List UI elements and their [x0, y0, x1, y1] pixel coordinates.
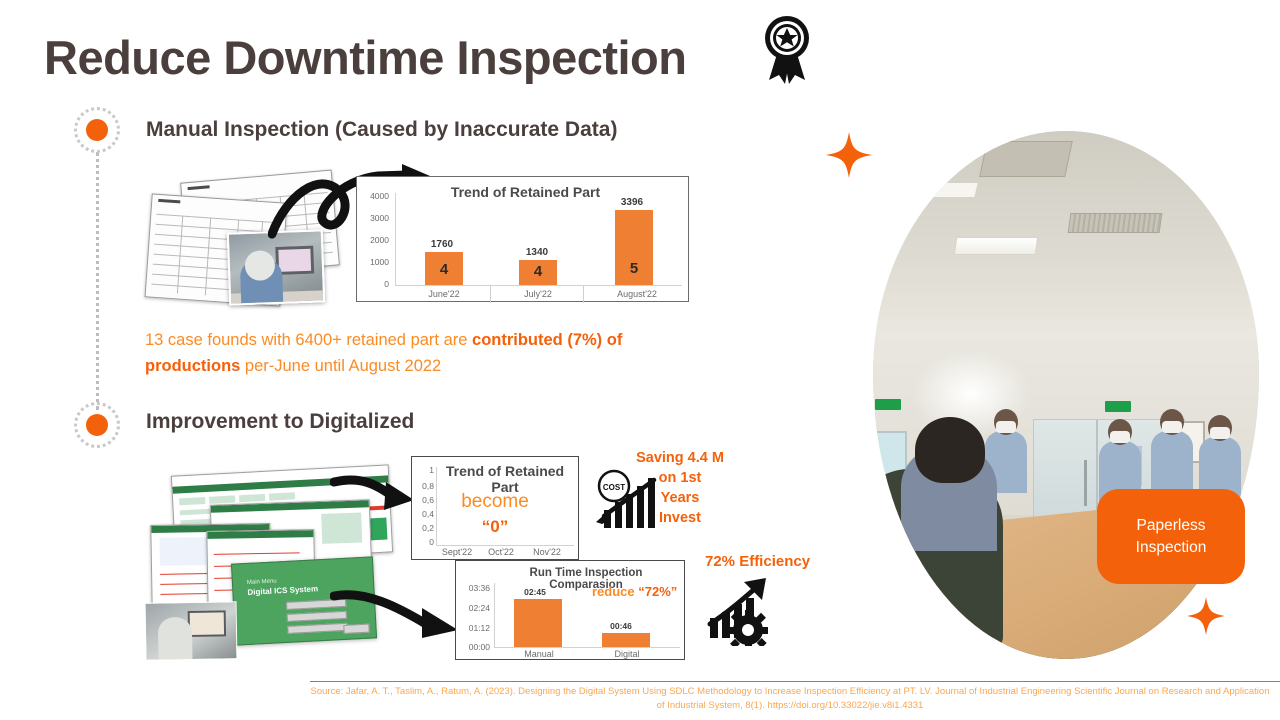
arrow-to-chart3-icon — [330, 588, 466, 646]
saving-line-1: Saving 4.4 M — [625, 448, 735, 468]
x-tick: June'22 — [407, 289, 481, 299]
highlight-tail: per-June until August 2022 — [240, 357, 441, 375]
section-heading-improvement: Improvement to Digitalized — [146, 410, 414, 434]
efficiency-label: 72% Efficiency — [705, 553, 810, 570]
bar-inner-label: 4 — [519, 263, 557, 280]
zero-label: “0” — [412, 517, 578, 537]
reduce-prefix: reduce — [592, 584, 638, 599]
y-tick: 03:36 — [452, 583, 490, 593]
sparkle-icon — [1187, 597, 1225, 635]
highlight-lead: 13 case founds with 6400+ retained part … — [145, 331, 472, 349]
bar-digital — [602, 633, 650, 647]
x-tick: Sept'22 — [434, 547, 480, 557]
x-tick: Nov'22 — [524, 547, 570, 557]
y-tick: 01:12 — [452, 623, 490, 633]
saving-line-3: Years — [625, 488, 735, 508]
x-tick: Manual — [504, 649, 574, 659]
y-tick: 00:00 — [452, 642, 490, 652]
x-tick: August'22 — [595, 289, 679, 299]
timeline-dot — [86, 119, 108, 141]
badge-line-2: Inspection — [1136, 537, 1207, 559]
x-tick: Digital — [592, 649, 662, 659]
y-tick: 1000 — [359, 257, 389, 267]
operator-digital-system-photo — [145, 601, 238, 661]
timeline-dot — [86, 414, 108, 436]
svg-text:COST: COST — [603, 483, 625, 492]
bar-manual — [514, 599, 562, 647]
reduce-value: “72%” — [638, 584, 677, 599]
efficiency-growth-gear-icon — [704, 574, 780, 646]
x-tick: Oct'22 — [478, 547, 524, 557]
chart-trend-retained-part-digital: Trend of Retained Part 1 0,8 0,6 0,4 0,2… — [411, 456, 579, 560]
y-tick: 4000 — [359, 191, 389, 201]
y-tick: 0,8 — [404, 481, 434, 491]
badge-line-1: Paperless — [1136, 515, 1207, 537]
bar-value-label: 1760 — [407, 239, 477, 250]
become-label: become — [412, 491, 578, 513]
status-badge-paperless-inspection: Paperless Inspection — [1097, 489, 1245, 584]
section-heading-manual-inspection: Manual Inspection (Caused by Inaccurate … — [146, 118, 617, 142]
bar-value-label: 3396 — [597, 197, 667, 208]
reduce-percentage-label: reduce “72%” — [592, 584, 677, 599]
highlight-paragraph: 13 case founds with 6400+ retained part … — [145, 327, 705, 379]
sparkle-icon — [826, 132, 872, 178]
saving-line-2: on 1st — [625, 468, 735, 488]
slide-root: Reduce Downtime Inspection Manual Inspec… — [0, 0, 1280, 720]
saving-line-4: Invest — [625, 508, 735, 528]
bar-value-label: 00:46 — [586, 621, 656, 631]
source-citation: Source: Jafar, A. T., Taslim, A., Ratum,… — [310, 685, 1270, 713]
bar-inner-label: 5 — [615, 260, 653, 277]
y-tick: 0 — [404, 537, 434, 547]
award-medal-icon — [757, 14, 817, 86]
menu-title: Digital ICS System — [247, 584, 318, 597]
timeline-connector — [96, 152, 99, 410]
attendee — [1151, 431, 1193, 493]
bar-inner-label: 4 — [425, 261, 463, 278]
bar-value-label: 02:45 — [500, 587, 570, 597]
y-tick: 2000 — [359, 235, 389, 245]
x-tick: July'22 — [501, 289, 575, 299]
bar-value-label: 1340 — [502, 247, 572, 258]
footer-divider — [310, 681, 1280, 682]
y-tick: 1 — [404, 465, 434, 475]
saving-text: Saving 4.4 M on 1st Years Invest — [625, 448, 735, 528]
y-tick: 02:24 — [452, 603, 490, 613]
page-title: Reduce Downtime Inspection — [44, 30, 686, 85]
chart-trend-retained-part-manual: Trend of Retained Part 4000 3000 2000 10… — [356, 176, 689, 302]
y-tick: 3000 — [359, 213, 389, 223]
y-tick: 0 — [359, 279, 389, 289]
chart-run-time-inspection-comparasion: Run Time Inspection Comparasion 03:36 02… — [455, 560, 685, 660]
menu-subtitle: Main Menu — [247, 578, 277, 586]
citation-line-1: Source: Jafar, A. T., Taslim, A., Ratum,… — [311, 686, 1019, 697]
timeline-node-2 — [74, 402, 120, 448]
timeline-node-1 — [74, 107, 120, 153]
